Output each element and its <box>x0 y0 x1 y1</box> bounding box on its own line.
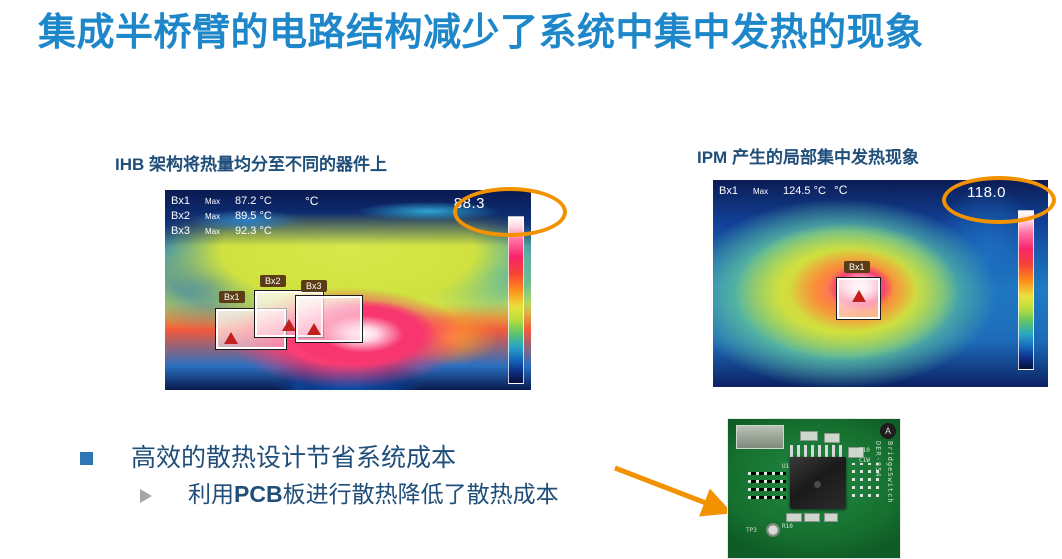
pcb-component <box>804 513 820 522</box>
page-title: 集成半桥臂的电路结构减少了系统中集中发热的现象 <box>38 10 1023 56</box>
readout-stat: Max <box>753 184 783 199</box>
readout-value: 89.5 °C <box>235 209 272 224</box>
pcb-silkscreen-ref1: Z10 <box>859 447 870 454</box>
pcb-chip-pins <box>790 445 846 457</box>
bullet2-text-after: 板进行散热降低了散热成本 <box>283 481 559 507</box>
bullet-level2-text: 利用PCB板进行散热降低了散热成本 <box>188 480 559 508</box>
readout-name: Bx2 <box>171 209 205 224</box>
pcb-badge: A <box>880 423 896 439</box>
bullet-level2: 利用PCB板进行散热降低了散热成本 <box>140 480 559 508</box>
measure-marker-icon <box>282 319 296 331</box>
slide-root: 集成半桥臂的电路结构减少了系统中集中发热的现象 IHB 架构将热量均分至不同的器… <box>0 0 1062 557</box>
pcb-chip <box>790 457 846 509</box>
measure-box-bx3 <box>296 296 362 342</box>
bullet-level1: 高效的散热设计节省系统成本 <box>80 443 456 473</box>
measure-box-label: Bx1 <box>219 291 245 303</box>
pcb-mounting-hole <box>766 523 780 537</box>
pcb-silkscreen-ref3: TP3 <box>746 527 757 534</box>
right-panel-caption: IPM 产生的局部集中发热现象 <box>697 143 919 168</box>
highlight-ellipse-right <box>942 176 1056 224</box>
pcb-component <box>786 513 802 522</box>
measure-marker-icon <box>307 323 321 335</box>
measure-marker-icon <box>224 332 238 344</box>
pcb-thermal-pads-left <box>748 467 786 499</box>
colorbar-right <box>1018 210 1034 370</box>
pcb-connector <box>736 425 784 449</box>
measure-box-label: Bx1 <box>844 261 870 273</box>
bullet-level1-text: 高效的散热设计节省系统成本 <box>131 443 456 473</box>
triangle-bullet-icon <box>140 489 152 503</box>
thermal-unit-label-left: °C <box>305 194 318 208</box>
pcb-silkscreen-ref5: U1 <box>782 463 789 470</box>
measure-box-label: Bx3 <box>301 280 327 292</box>
pcb-silkscreen-part: DER-854 <box>874 441 882 478</box>
readout-value: 92.3 °C <box>235 224 272 239</box>
pcb-silkscreen-ref2: C1W <box>859 457 870 464</box>
pcb-component <box>824 433 840 443</box>
thermal-readout-row: Bx3 Max 92.3 °C <box>171 224 272 239</box>
measure-box-label: Bx2 <box>260 275 286 287</box>
bullet2-text-bold: PCB <box>234 481 283 507</box>
readout-value: 87.2 °C <box>235 194 272 209</box>
square-bullet-icon <box>80 452 93 465</box>
readout-stat: Max <box>205 209 235 224</box>
pcb-component <box>800 431 818 441</box>
measure-box-bx1 <box>837 278 880 319</box>
thermal-readout-row: Bx1 Max 87.2 °C <box>171 194 272 209</box>
readout-stat: Max <box>205 194 235 209</box>
highlight-ellipse-left <box>453 187 567 237</box>
thermal-readout-row: Bx1 Max 124.5 °C <box>719 184 826 199</box>
pcb-silkscreen-name: BridgeSwitch <box>886 441 894 504</box>
thermal-unit-label-right: °C <box>834 183 847 197</box>
pcb-component <box>824 513 838 522</box>
readout-name: Bx1 <box>719 184 753 199</box>
bullet2-text-before: 利用 <box>188 481 234 507</box>
pcb-silkscreen-ref4: R10 <box>782 523 793 530</box>
measure-marker-icon <box>852 290 866 302</box>
pcb-photo: A BridgeSwitch DER-854 Z10 C1W TP3 R10 U… <box>727 418 901 559</box>
readout-name: Bx3 <box>171 224 205 239</box>
pointer-arrow-icon <box>612 462 742 522</box>
colorbar-left <box>508 216 524 384</box>
left-panel-caption: IHB 架构将热量均分至不同的器件上 <box>115 150 387 175</box>
thermal-readout-row: Bx2 Max 89.5 °C <box>171 209 272 224</box>
thermal-readouts-left: Bx1 Max 87.2 °C Bx2 Max 89.5 °C Bx3 Max … <box>171 194 272 239</box>
readout-stat: Max <box>205 224 235 239</box>
thermal-readouts-right: Bx1 Max 124.5 °C <box>719 184 826 199</box>
readout-value: 124.5 °C <box>783 184 826 199</box>
readout-name: Bx1 <box>171 194 205 209</box>
